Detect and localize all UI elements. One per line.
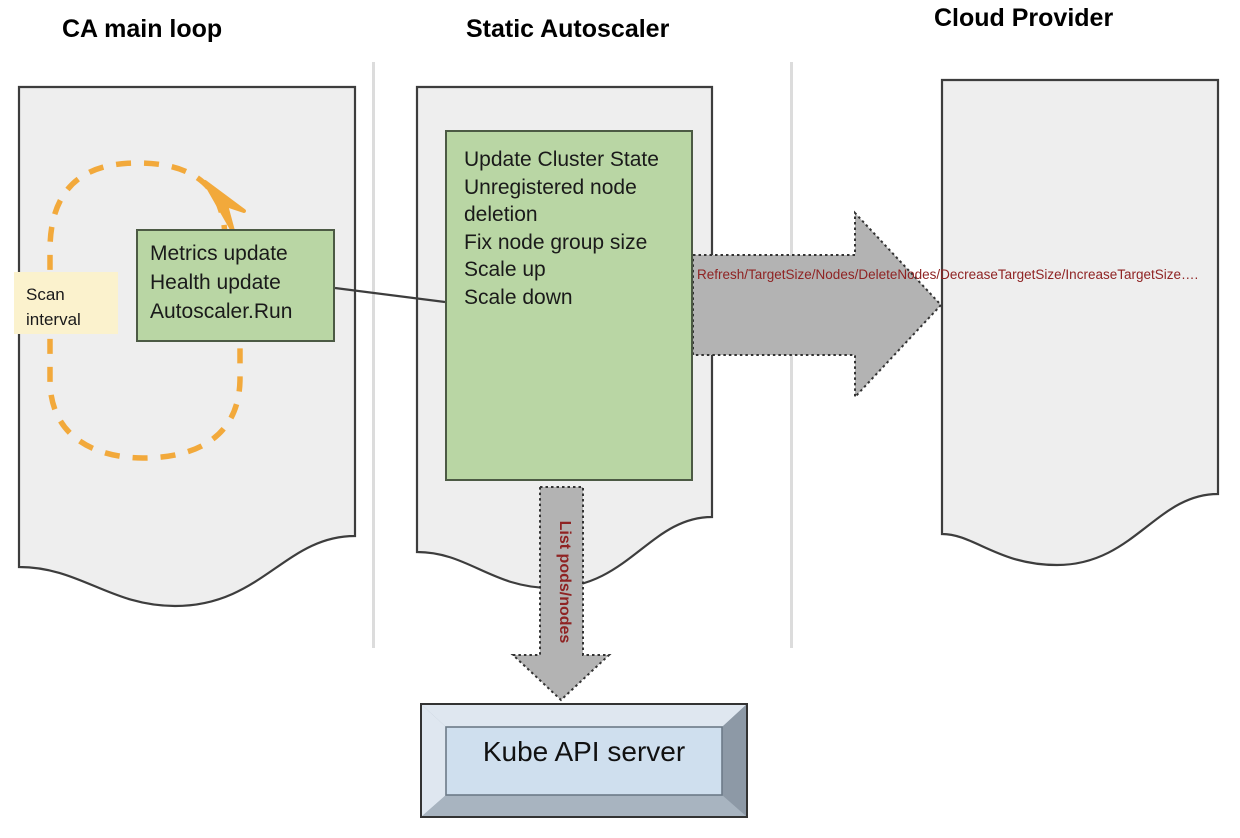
autoscaler-operations-box: Update Cluster State Unregistered node d… xyxy=(445,130,693,481)
operations-line-3: deletion xyxy=(464,201,691,229)
kube-api-arrow-label: List pods/nodes xyxy=(555,492,573,672)
column-title-static-autoscaler: Static Autoscaler xyxy=(466,15,669,44)
operations-line-4: Fix node group size xyxy=(464,229,691,257)
diagram-canvas: CA main loop Static Autoscaler Cloud Pro… xyxy=(0,0,1240,838)
metrics-box-line-3: Autoscaler.Run xyxy=(150,297,333,326)
column-title-ca-main-loop: CA main loop xyxy=(62,15,222,44)
column-shape-ca-main-loop xyxy=(19,87,355,606)
metrics-update-box: Metrics update Health update Autoscaler.… xyxy=(136,229,335,342)
kube-api-server-label: Kube API server xyxy=(432,736,736,768)
metrics-box-line-2: Health update xyxy=(150,268,333,297)
cloud-provider-arrow xyxy=(693,213,941,397)
operations-line-1: Update Cluster State xyxy=(464,146,691,174)
scan-interval-line-1: Scan xyxy=(26,282,118,307)
column-title-cloud-provider: Cloud Provider xyxy=(934,4,1113,33)
cloud-provider-arrow-label: Refresh/TargetSize/Nodes/DeleteNodes/Dec… xyxy=(697,266,893,284)
operations-line-2: Unregistered node xyxy=(464,174,691,202)
scan-interval-line-2: interval xyxy=(26,307,118,332)
column-shape-cloud-provider xyxy=(942,80,1218,565)
operations-line-6: Scale down xyxy=(464,284,691,312)
operations-line-5: Scale up xyxy=(464,256,691,284)
scan-interval-label: Scan interval xyxy=(14,272,118,334)
metrics-box-line-1: Metrics update xyxy=(150,239,333,268)
